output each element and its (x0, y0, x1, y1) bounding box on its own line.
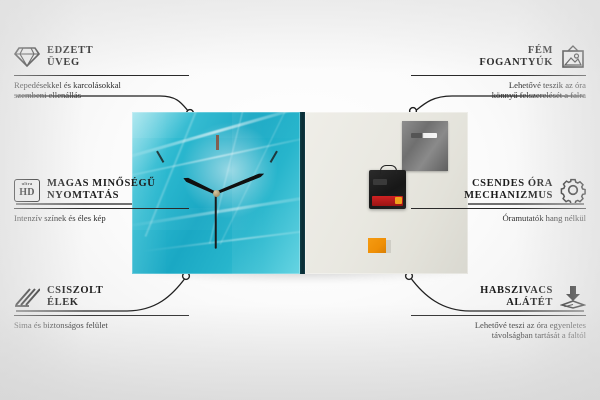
feature-metal-handles[interactable]: FÉM FOGANTYÚK Lehetővé teszik az óra kön… (411, 42, 586, 101)
foam-pad-icon (560, 284, 586, 310)
feature-description: Lehetővé teszik az óra könnyű felszerelé… (411, 80, 586, 101)
foam-spacer-pad (368, 238, 386, 253)
feature-title: EDZETT ÜVEG (47, 45, 93, 70)
feature-polished-edges[interactable]: CSISZOLT ÉLEK Sima és biztonságos felüle… (14, 282, 189, 330)
battery-plus-terminal (395, 197, 402, 204)
feature-description: Lehetővé teszi az óra egyenletes távolsá… (411, 320, 586, 341)
feature-divider (14, 75, 189, 76)
mechanism-loop (380, 165, 397, 174)
feature-divider (411, 75, 586, 76)
product-infographic: EDZETT ÜVEG Repedésekkel és karcolásokka… (0, 0, 600, 400)
gear-icon (560, 177, 586, 203)
foam-spacer-pad-edge (386, 240, 391, 253)
feature-description: Intenzív színek és éles kép (14, 213, 189, 223)
diamond-icon (14, 44, 40, 70)
feature-description: Sima és biztonságos felület (14, 320, 189, 330)
feature-divider (14, 315, 189, 316)
feature-description: Óramutatók hang nélkül (411, 213, 586, 223)
feature-quiet-mechanism[interactable]: CSENDES ÓRA MECHANIZMUS Óramutatók hang … (411, 175, 586, 223)
feature-title: CSENDES ÓRA MECHANIZMUS (464, 178, 553, 203)
ultra-hd-icon: ultra HD (14, 177, 40, 203)
clock-mechanism (369, 170, 406, 209)
feature-title: HABSZIVACS ALÁTÉT (480, 285, 553, 310)
mechanism-slot (373, 179, 387, 185)
feature-title: FÉM FOGANTYÚK (479, 45, 553, 70)
feature-divider (411, 208, 586, 209)
feature-divider (14, 208, 189, 209)
feature-title: CSISZOLT ÉLEK (47, 285, 103, 310)
feature-divider (411, 315, 586, 316)
feature-title: MAGAS MINŐSÉGŰ NYOMTATÁS (47, 178, 155, 203)
metal-hanger-plate (402, 121, 448, 171)
feature-description: Repedésekkel és karcolásokkal szembeni e… (14, 80, 189, 101)
polished-edges-icon (14, 284, 40, 310)
battery-compartment (372, 196, 403, 206)
ultra-hd-label-main: HD (19, 188, 34, 198)
feature-tempered-glass[interactable]: EDZETT ÜVEG Repedésekkel és karcolásokka… (14, 42, 189, 101)
feature-foam-pad[interactable]: HABSZIVACS ALÁTÉT Lehetővé teszi az óra … (411, 282, 586, 341)
feature-high-quality-print[interactable]: ultra HD MAGAS MINŐSÉGŰ NYOMTATÁS Intenz… (14, 175, 189, 223)
hanger-slot (411, 133, 437, 138)
clock-hand-cap (213, 190, 220, 197)
clock-second-hand (215, 193, 217, 249)
clock-minute-hand (215, 172, 265, 195)
picture-hanger-icon (560, 44, 586, 70)
